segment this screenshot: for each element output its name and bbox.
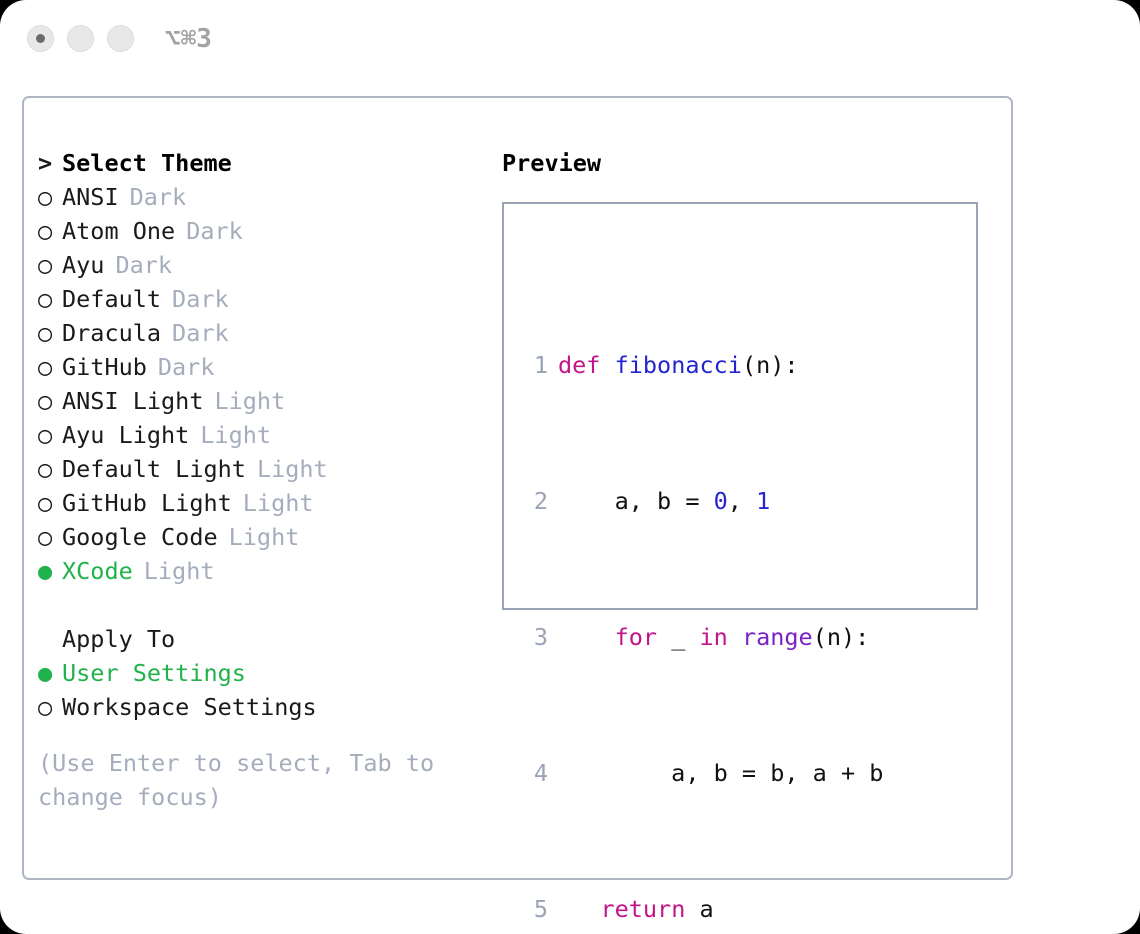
radio-selected-icon[interactable]: ● bbox=[38, 656, 62, 690]
theme-item-tag: Light bbox=[133, 554, 215, 588]
apply-to-workspace-settings[interactable]: ○Workspace Settings bbox=[38, 690, 478, 724]
code-token: a, b = bbox=[558, 484, 714, 518]
theme-item-label: GitHub bbox=[62, 350, 147, 384]
theme-item-label: Default Light bbox=[62, 452, 246, 486]
code-token: , bbox=[728, 484, 756, 518]
title-bar: ⌥⌘3 bbox=[0, 0, 1140, 78]
radio-unselected-icon[interactable]: ○ bbox=[38, 350, 62, 384]
theme-item-label: Google Code bbox=[62, 520, 218, 554]
traffic-light-minimize[interactable] bbox=[67, 25, 94, 52]
theme-item-label: Ayu bbox=[62, 248, 104, 282]
apply-to-item-label: User Settings bbox=[62, 656, 246, 690]
code-preview: 1def fibonacci(n): 2 a, b = 0, 1 3 for _… bbox=[518, 246, 912, 934]
apply-to-item-label: Workspace Settings bbox=[62, 690, 317, 724]
radio-unselected-icon[interactable]: ○ bbox=[38, 180, 62, 214]
code-token bbox=[728, 620, 742, 654]
theme-item-dracula[interactable]: ○DraculaDark bbox=[38, 316, 478, 350]
code-line: 1def fibonacci(n): bbox=[518, 348, 912, 382]
code-token-builtin: range bbox=[742, 620, 813, 654]
theme-item-tag: Dark bbox=[161, 316, 229, 350]
line-number: 3 bbox=[518, 620, 558, 654]
main-panel: >Select Theme ○ANSIDark ○Atom OneDark ○A… bbox=[22, 96, 1013, 880]
radio-unselected-icon[interactable]: ○ bbox=[38, 384, 62, 418]
theme-item-tag: Dark bbox=[175, 214, 243, 248]
line-number: 5 bbox=[518, 892, 558, 926]
radio-selected-icon[interactable]: ● bbox=[38, 554, 62, 588]
theme-item-ayu-light[interactable]: ○Ayu LightLight bbox=[38, 418, 478, 452]
theme-item-label: Dracula bbox=[62, 316, 161, 350]
code-token bbox=[600, 348, 614, 382]
theme-picker-column: >Select Theme ○ANSIDark ○Atom OneDark ○A… bbox=[38, 146, 478, 724]
line-number: 2 bbox=[518, 484, 558, 518]
theme-item-ansi-light[interactable]: ○ANSI LightLight bbox=[38, 384, 478, 418]
theme-item-label: ANSI Light bbox=[62, 384, 203, 418]
prompt-caret-icon: > bbox=[38, 146, 62, 180]
radio-unselected-icon[interactable]: ○ bbox=[38, 282, 62, 316]
apply-to-header: oApply To bbox=[38, 622, 478, 656]
code-token-number: 0 bbox=[714, 484, 728, 518]
traffic-light-active-dot bbox=[36, 34, 45, 43]
theme-item-tag: Light bbox=[203, 384, 285, 418]
theme-item-ansi[interactable]: ○ANSIDark bbox=[38, 180, 478, 214]
theme-item-xcode[interactable]: ●XCodeLight bbox=[38, 554, 478, 588]
code-token-keyword: in bbox=[700, 620, 728, 654]
theme-item-label: Ayu Light bbox=[62, 418, 189, 452]
apply-to-header-indent: o bbox=[38, 622, 62, 656]
code-token-keyword: for bbox=[615, 620, 657, 654]
theme-item-tag: Light bbox=[246, 452, 328, 486]
traffic-light-maximize[interactable] bbox=[107, 25, 134, 52]
radio-unselected-icon[interactable]: ○ bbox=[38, 520, 62, 554]
code-token bbox=[558, 620, 615, 654]
code-token: a, b = b, a + b bbox=[558, 756, 883, 790]
code-token: (n): bbox=[813, 620, 870, 654]
theme-item-github[interactable]: ○GitHubDark bbox=[38, 350, 478, 384]
theme-item-tag: Dark bbox=[147, 350, 215, 384]
section-gap bbox=[38, 588, 478, 622]
radio-unselected-icon[interactable]: ○ bbox=[38, 418, 62, 452]
app-window: ⌥⌘3 >Select Theme ○ANSIDark ○Atom OneDar… bbox=[0, 0, 1140, 934]
select-theme-header-label: Select Theme bbox=[62, 146, 232, 180]
keyboard-shortcut-label: ⌥⌘3 bbox=[165, 24, 212, 54]
radio-unselected-icon[interactable]: ○ bbox=[38, 316, 62, 350]
code-token: (n): bbox=[742, 348, 799, 382]
preview-box: 1def fibonacci(n): 2 a, b = 0, 1 3 for _… bbox=[502, 202, 978, 610]
code-line: 5 return a bbox=[518, 892, 912, 926]
theme-item-default-light[interactable]: ○Default LightLight bbox=[38, 452, 478, 486]
code-token-number: 1 bbox=[756, 484, 770, 518]
code-token bbox=[558, 892, 600, 926]
code-token: a bbox=[685, 892, 713, 926]
radio-unselected-icon[interactable]: ○ bbox=[38, 452, 62, 486]
code-line: 4 a, b = b, a + b bbox=[518, 756, 912, 790]
theme-item-tag: Dark bbox=[119, 180, 187, 214]
code-token: _ bbox=[657, 620, 699, 654]
theme-item-label: GitHub Light bbox=[62, 486, 232, 520]
theme-item-tag: Light bbox=[189, 418, 271, 452]
apply-to-user-settings[interactable]: ●User Settings bbox=[38, 656, 478, 690]
theme-item-github-light[interactable]: ○GitHub LightLight bbox=[38, 486, 478, 520]
apply-to-header-label: Apply To bbox=[62, 622, 175, 656]
theme-item-tag: Light bbox=[232, 486, 314, 520]
preview-title: Preview bbox=[502, 146, 1002, 180]
theme-item-tag: Dark bbox=[161, 282, 229, 316]
theme-item-label: ANSI bbox=[62, 180, 119, 214]
code-token-keyword: return bbox=[600, 892, 685, 926]
theme-item-label: Atom One bbox=[62, 214, 175, 248]
theme-item-google-code[interactable]: ○Google CodeLight bbox=[38, 520, 478, 554]
code-line: 3 for _ in range(n): bbox=[518, 620, 912, 654]
theme-item-tag: Light bbox=[218, 520, 300, 554]
line-number: 4 bbox=[518, 756, 558, 790]
theme-item-ayu[interactable]: ○AyuDark bbox=[38, 248, 478, 282]
radio-unselected-icon[interactable]: ○ bbox=[38, 690, 62, 724]
code-token-keyword: def bbox=[558, 348, 600, 382]
radio-unselected-icon[interactable]: ○ bbox=[38, 248, 62, 282]
select-theme-header: >Select Theme bbox=[38, 146, 478, 180]
traffic-lights bbox=[27, 25, 134, 52]
theme-item-label: XCode bbox=[62, 554, 133, 588]
code-line: 2 a, b = 0, 1 bbox=[518, 484, 912, 518]
line-number: 1 bbox=[518, 348, 558, 382]
theme-item-label: Default bbox=[62, 282, 161, 316]
traffic-light-close[interactable] bbox=[27, 25, 54, 52]
radio-unselected-icon[interactable]: ○ bbox=[38, 214, 62, 248]
theme-item-default[interactable]: ○DefaultDark bbox=[38, 282, 478, 316]
theme-item-atom-one[interactable]: ○Atom OneDark bbox=[38, 214, 478, 248]
keyboard-hint-text: (Use Enter to select, Tab to change focu… bbox=[38, 746, 448, 814]
radio-unselected-icon[interactable]: ○ bbox=[38, 486, 62, 520]
preview-column: Preview 1def fibonacci(n): 2 a, b = 0, 1… bbox=[502, 146, 1002, 180]
theme-item-tag: Dark bbox=[104, 248, 172, 282]
code-token-function: fibonacci bbox=[615, 348, 742, 382]
